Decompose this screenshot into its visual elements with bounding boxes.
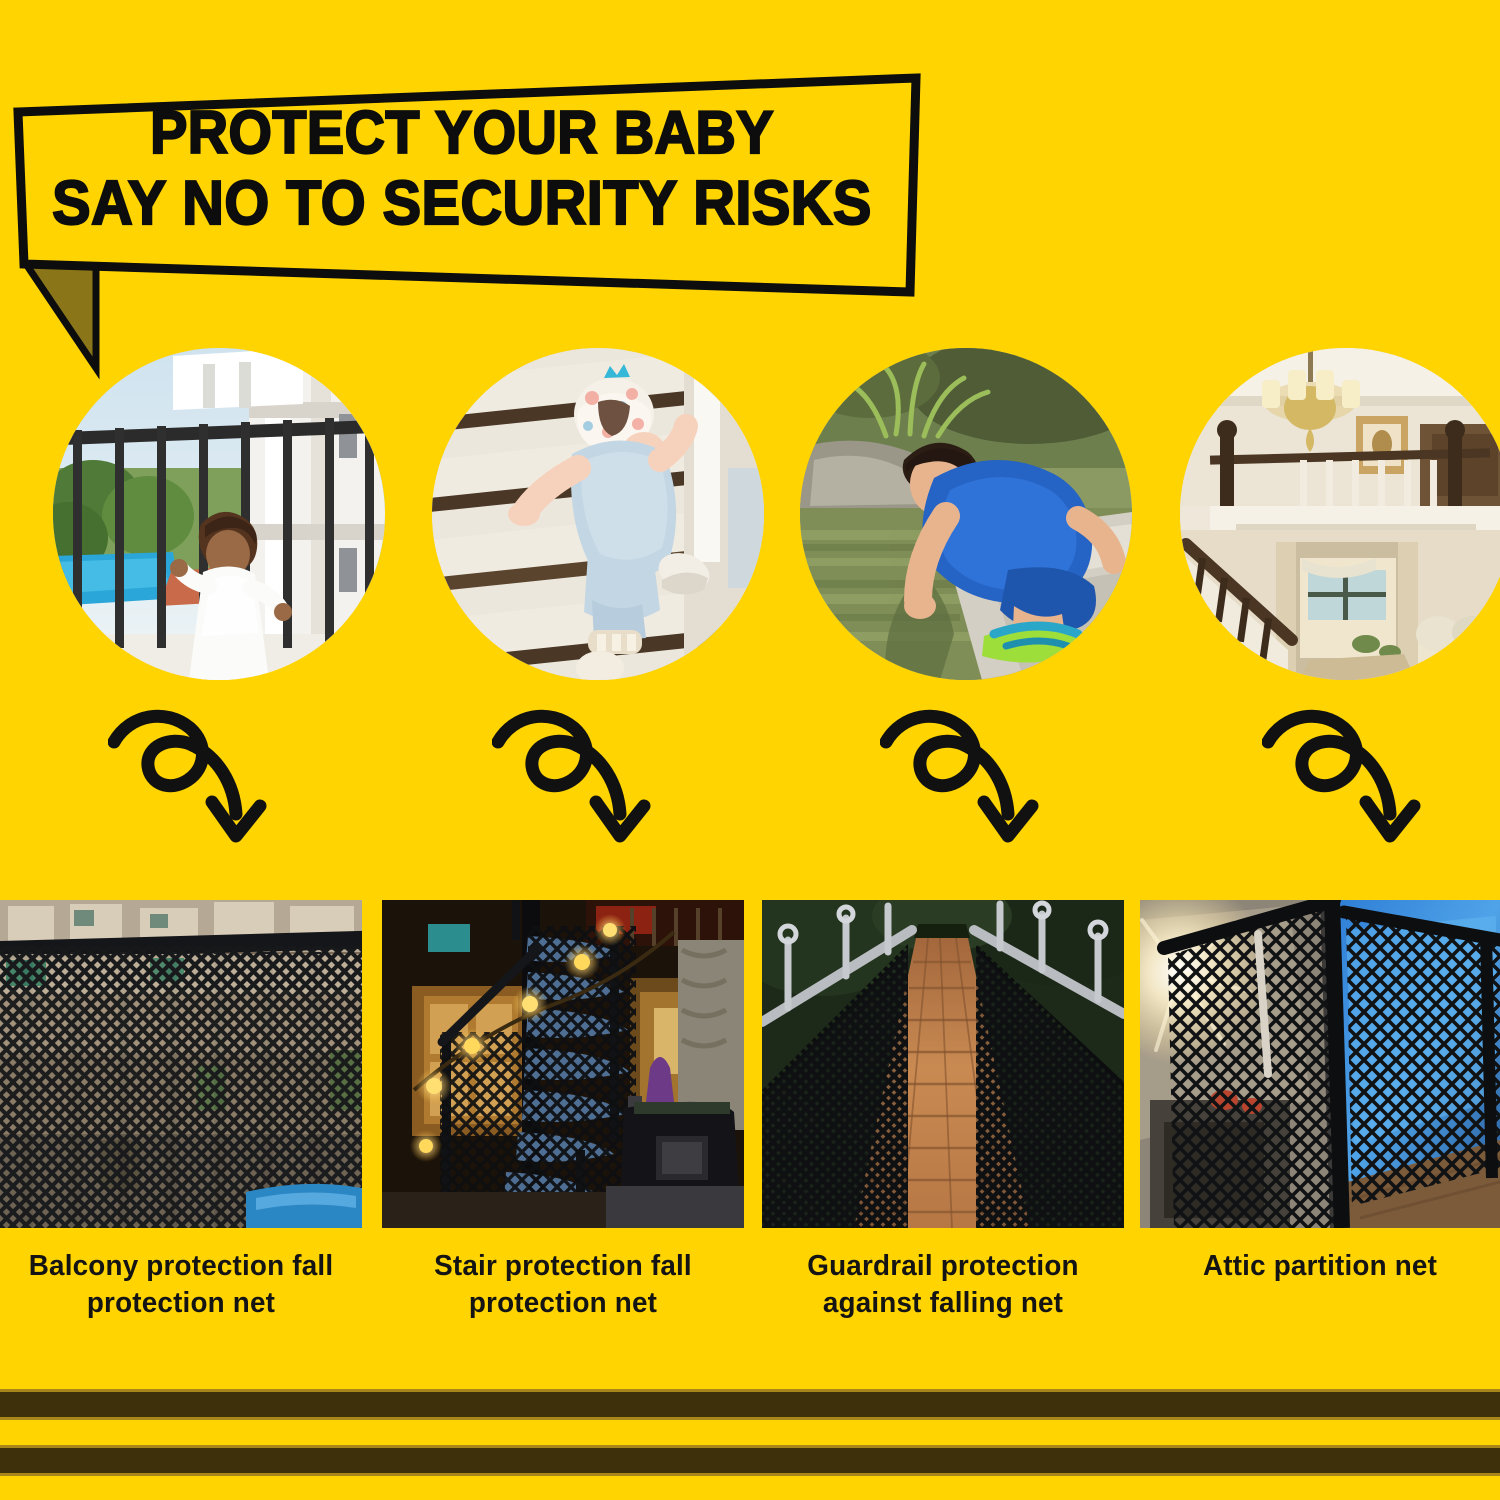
curly-arrow-icon	[880, 706, 1056, 856]
decor-bar-bottom	[0, 1445, 1500, 1476]
stair-net-illustration	[382, 900, 744, 1228]
pond-risk-illustration	[800, 348, 1132, 680]
product-photo-row	[0, 900, 1500, 1228]
product-photo-attic-net	[1140, 900, 1500, 1228]
risk-photo-row	[0, 348, 1500, 688]
caption-stair-net: Stair protection fall protection net	[389, 1248, 737, 1334]
headline-speech-bubble: PROTECT YOUR BABYSAY NO TO SECURITY RISK…	[8, 68, 928, 368]
risk-photo-pond	[800, 348, 1132, 680]
poster-canvas: PROTECT YOUR BABYSAY NO TO SECURITY RISK…	[0, 0, 1500, 1500]
caption-balcony-net: Balcony protection fall protection net	[7, 1248, 355, 1334]
risk-photo-loft	[1180, 348, 1500, 680]
loft-risk-illustration	[1180, 348, 1500, 680]
decor-bar-top	[0, 1389, 1500, 1420]
stairs-risk-illustration	[432, 348, 764, 680]
product-photo-balcony-net	[0, 900, 362, 1228]
photo-frame-circle	[53, 348, 385, 680]
photo-frame-circle	[432, 348, 764, 680]
attic-net-illustration	[1140, 900, 1500, 1228]
photo-frame-circle	[1180, 348, 1500, 680]
headline-line-2: SAY NO TO SECURITY RISKS	[40, 168, 884, 241]
product-photo-stair-net	[382, 900, 744, 1228]
curly-arrow-4	[1262, 706, 1438, 856]
curly-arrow-2	[492, 706, 668, 856]
headline-line-1: PROTECT YOUR BABY	[150, 99, 774, 166]
curly-arrow-3	[880, 706, 1056, 856]
curly-arrow-icon	[492, 706, 668, 856]
balcony-risk-illustration	[53, 348, 385, 680]
curly-arrow-icon	[1262, 706, 1438, 856]
risk-photo-stairs	[432, 348, 764, 680]
balcony-net-illustration	[0, 900, 362, 1228]
caption-guardrail-net: Guardrail protection against falling net	[769, 1248, 1117, 1334]
caption-attic-net: Attic partition net	[1147, 1248, 1493, 1334]
guardrail-net-illustration	[762, 900, 1124, 1228]
risk-photo-balcony	[53, 348, 385, 680]
page-title: PROTECT YOUR BABYSAY NO TO SECURITY RISK…	[40, 98, 884, 241]
product-photo-guardrail-net	[762, 900, 1124, 1228]
curly-arrow-icon	[108, 706, 284, 856]
photo-frame-circle	[800, 348, 1132, 680]
curly-arrow-1	[108, 706, 284, 856]
